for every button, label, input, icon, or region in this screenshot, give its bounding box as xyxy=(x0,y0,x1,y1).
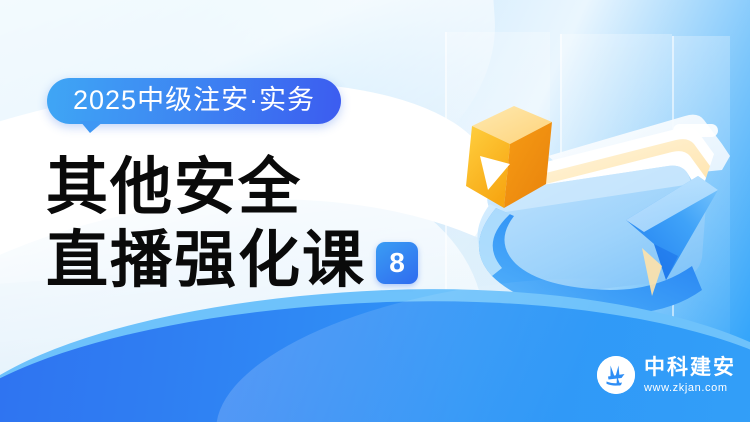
course-category-badge[interactable]: 2025中级注安·实务 xyxy=(47,78,341,124)
lesson-number-badge[interactable]: 8 xyxy=(376,242,418,284)
zkjan-logo-icon xyxy=(597,356,635,394)
course-category-label: 2025中级注安·实务 xyxy=(73,85,315,115)
logo-text-block: 中科建安 www.zkjan.com xyxy=(644,357,736,394)
badge-tail-icon xyxy=(80,121,104,133)
logo-company-name: 中科建安 xyxy=(644,357,736,378)
title-line-1-text: 其他安全 xyxy=(46,150,302,223)
page-title: 其他安全 直播强化课 8 xyxy=(46,152,418,296)
title-line-2-text: 直播强化课 xyxy=(46,225,366,295)
brand-logo[interactable]: 中科建安 www.zkjan.com xyxy=(597,356,736,394)
title-line-2: 直播强化课 8 xyxy=(46,224,418,296)
title-line-1: 其他安全 xyxy=(46,152,418,224)
course-banner: 2025中级注安·实务 其他安全 直播强化课 8 中科建安 www.z xyxy=(0,0,750,422)
logo-website-url: www.zkjan.com xyxy=(644,383,736,394)
